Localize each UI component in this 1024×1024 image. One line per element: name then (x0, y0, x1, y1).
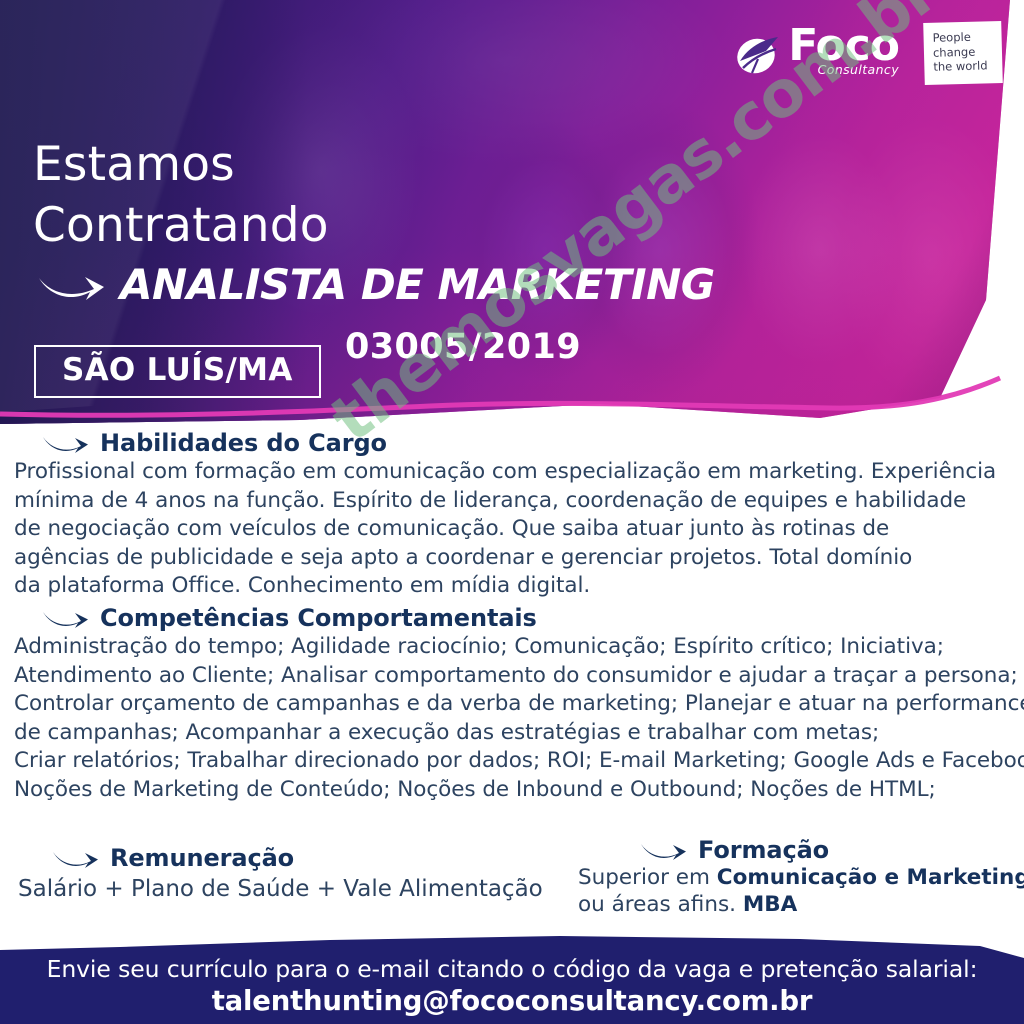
text-line: Profissional com formação em comunicação… (14, 458, 1010, 487)
location-badge: SÃO LUÍS/MA (34, 345, 321, 398)
arrow-right-icon (52, 845, 100, 871)
foco-swoosh-icon (736, 35, 780, 77)
arrow-right-icon (640, 837, 688, 863)
section-remuneration: Remuneração Salário + Plano de Saúde + V… (0, 845, 590, 904)
arrow-right-icon (38, 265, 106, 305)
education-text: ou áreas afins. (578, 892, 743, 917)
logo-wordmark: Foco (788, 26, 899, 66)
text-line: da plataforma Office. Conhecimento em mí… (14, 572, 1010, 601)
text-line: de campanhas; Acompanhar a execução das … (14, 719, 1010, 748)
headline-line-2: Contratando (33, 202, 329, 249)
text-line: mínima de 4 anos na função. Espírito de … (14, 487, 1010, 516)
section-header: Remuneração (0, 845, 590, 871)
text-line: Administração do tempo; Agilidade racioc… (14, 633, 1010, 662)
text-line: Atendimento ao Cliente; Analisar comport… (14, 662, 1010, 691)
section-competencies: Competências Comportamentais Administraç… (0, 601, 1024, 805)
education-line-1: Superior em Comunicação e Marketing (578, 865, 1024, 890)
section-skills: Habilidades do Cargo Profissional com fo… (0, 424, 1024, 601)
foco-logo: Foco Consultancy (736, 26, 899, 77)
section-header: Competências Comportamentais (0, 605, 1024, 631)
hero-banner: Foco Consultancy People change the world… (0, 0, 1024, 430)
section-title: Formação (698, 838, 829, 862)
text-line: de negociação com veículos de comunicaçã… (14, 515, 1010, 544)
section-title: Competências Comportamentais (100, 606, 537, 630)
job-code: 03005/2019 (345, 330, 581, 365)
job-body: Habilidades do Cargo Profissional com fo… (0, 424, 1024, 805)
education-text: Superior em (578, 865, 717, 890)
arrow-right-icon (42, 430, 90, 456)
footer-instruction: Envie seu currículo para o e-mail citand… (0, 958, 1024, 982)
education-emphasis: Comunicação e Marketing (717, 865, 1024, 890)
text-line: Criar relatórios; Trabalhar direcionado … (14, 747, 1010, 776)
arrow-right-icon (42, 605, 90, 631)
text-line: Noções de Marketing de Conteúdo; Noções … (14, 776, 1010, 805)
section-header: Habilidades do Cargo (0, 430, 1024, 456)
education-emphasis: MBA (743, 892, 797, 917)
job-title: ANALISTA DE MARKETING (120, 264, 715, 306)
remuneration-value: Salário + Plano de Saúde + Vale Alimenta… (0, 876, 590, 904)
footer-bar: Envie seu currículo para o e-mail citand… (0, 936, 1024, 1024)
headline-line-1: Estamos (33, 141, 235, 188)
tagline-card: People change the world (923, 21, 1003, 85)
footer-email[interactable]: talenthunting@fococonsultancy.com.br (0, 988, 1024, 1016)
role-row: ANALISTA DE MARKETING (38, 264, 715, 306)
text-line: agências de publicidade e seja apto a co… (14, 544, 1010, 573)
skills-paragraph: Profissional com formação em comunicação… (0, 458, 1024, 601)
section-title: Habilidades do Cargo (100, 431, 387, 455)
lower-columns: Remuneração Salário + Plano de Saúde + V… (0, 845, 1024, 945)
competencies-paragraph: Administração do tempo; Agilidade racioc… (0, 633, 1024, 805)
section-title: Remuneração (110, 846, 294, 870)
education-line-2: ou áreas afins. MBA (578, 892, 1024, 917)
section-header: Formação (578, 837, 1024, 863)
text-line: Controlar orçamento de campanhas e da ve… (14, 690, 1010, 719)
section-education: Formação Superior em Comunicação e Marke… (578, 837, 1024, 918)
location-label: SÃO LUÍS/MA (62, 355, 293, 386)
